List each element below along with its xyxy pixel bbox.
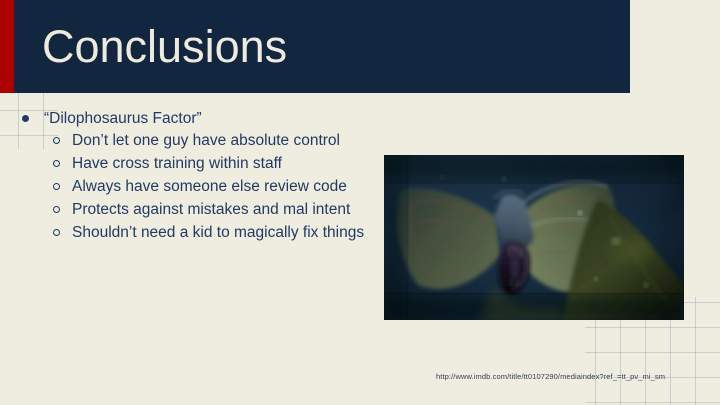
- list-item-label: Protects against mistakes and mal intent: [72, 201, 350, 218]
- image-source-caption: http://www.imdb.com/title/tt0107290/medi…: [436, 372, 665, 381]
- list-item-label: Always have someone else review code: [72, 178, 347, 195]
- dilophosaurus-photo: [384, 155, 684, 320]
- accent-bar: [0, 0, 14, 93]
- slide: Conclusions “Dilophosaurus Factor” Don’t…: [0, 0, 720, 405]
- bullet-circle-icon: [53, 206, 60, 213]
- page-title: Conclusions: [42, 17, 287, 77]
- list-item: “Dilophosaurus Factor”: [14, 108, 382, 129]
- list-item-label: Shouldn’t need a kid to magically fix th…: [72, 224, 364, 241]
- bullet-circle-icon: [53, 183, 60, 190]
- list-item: Have cross training within staff: [14, 153, 382, 175]
- list-item-label: Have cross training within staff: [72, 155, 282, 172]
- bullet-list: “Dilophosaurus Factor” Don’t let one guy…: [14, 108, 382, 245]
- bullet-disc-icon: [22, 115, 29, 122]
- list-item: Protects against mistakes and mal intent: [14, 199, 382, 221]
- bullet-circle-icon: [53, 229, 60, 236]
- bullet-circle-icon: [53, 160, 60, 167]
- bullet-circle-icon: [53, 137, 60, 144]
- dilophosaurus-photo-graphic: [384, 155, 684, 320]
- list-item: Don’t let one guy have absolute control: [14, 130, 382, 152]
- list-item: Shouldn’t need a kid to magically fix th…: [14, 222, 382, 244]
- list-item: Always have someone else review code: [14, 176, 382, 198]
- list-item-label: “Dilophosaurus Factor”: [44, 110, 202, 127]
- list-item-label: Don’t let one guy have absolute control: [72, 132, 340, 149]
